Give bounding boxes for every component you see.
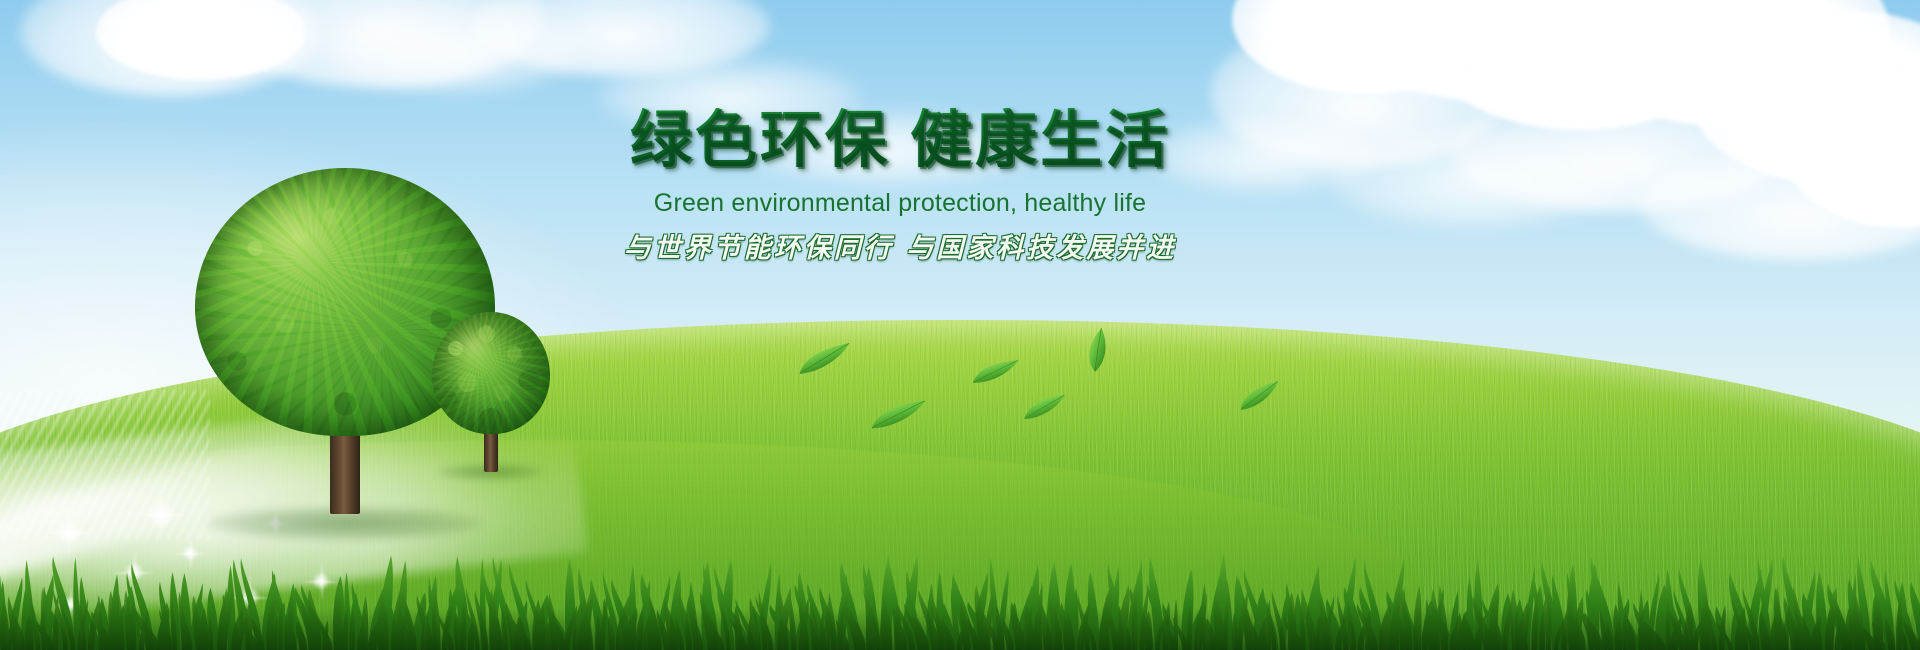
small-tree: [432, 312, 550, 476]
grass-blades-icon: [0, 554, 1920, 650]
headline-text-block: 绿色环保 健康生活 Green environmental protection…: [620, 108, 1180, 265]
eco-hero-banner: 绿色环保 健康生活 Green environmental protection…: [0, 0, 1920, 650]
small-tree-crown: [432, 312, 550, 434]
sparkle-1: [56, 520, 82, 546]
page-title: 绿色环保 健康生活: [620, 108, 1180, 175]
foreground-grass-band: [0, 554, 1920, 650]
sparkle-5: [146, 500, 176, 530]
subtitle-chinese-calligraphy: 与世界节能环保同行 与国家科技发展并进: [620, 226, 1180, 265]
subtitle-english: Green environmental protection, healthy …: [620, 189, 1180, 218]
small-tree-foliage-detail: [432, 312, 550, 434]
